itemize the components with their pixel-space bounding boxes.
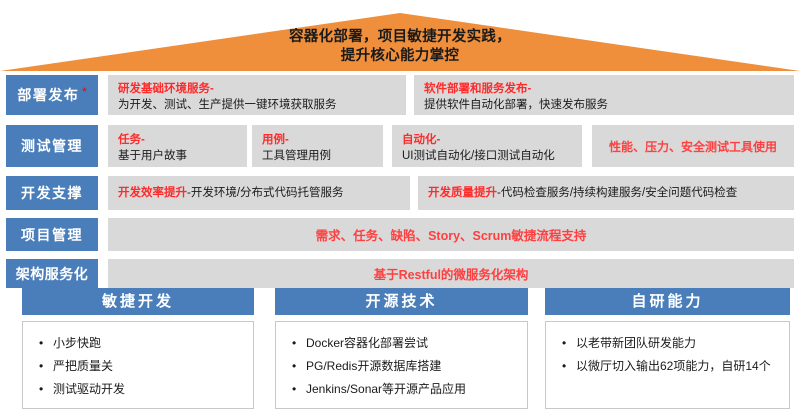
list-item[interactable]: 测试驱动开发 (31, 378, 247, 401)
matrix-card[interactable]: 需求、任务、缺陷、Story、Scrum敏捷流程支持 (108, 218, 794, 251)
banner-title: 容器化部署，项目敏捷开发实践， 提升核心能力掌控 (0, 28, 800, 66)
panel-body: 小步快跑 严把质量关 测试驱动开发 (22, 321, 254, 409)
card-subtitle: 基于用户故事 (118, 148, 247, 164)
matrix-card[interactable]: 研发基础环境服务- 为开发、测试、生产提供一键环境获取服务 (108, 75, 406, 115)
panel-selfdev: 自研能力 以老带新团队研发能力 以微厅切入输出62项能力，自研14个 (545, 288, 790, 409)
card-title: 自动化- (402, 133, 582, 148)
list-item[interactable]: PG/Redis开源数据库搭建 (284, 355, 521, 378)
matrix-card[interactable]: 开发质量提升-代码检查服务/持续构建服务/安全问题代码检查 (418, 176, 794, 210)
matrix-card[interactable]: 性能、压力、安全测试工具使用 (592, 125, 794, 167)
matrix-card[interactable]: 任务- 基于用户故事 (108, 125, 247, 167)
panel-body: Docker容器化部署尝试 PG/Redis开源数据库搭建 Jenkins/So… (275, 321, 528, 409)
card-line: 开发质量提升-代码检查服务/持续构建服务/安全问题代码检查 (428, 185, 794, 201)
list-item[interactable]: 严把质量关 (31, 355, 247, 378)
list-item[interactable]: 小步快跑 (31, 332, 247, 355)
banner-title-line2: 提升核心能力掌控 (0, 47, 800, 66)
card-line: 开发效率提升-开发环境/分布式代码托管服务 (118, 185, 410, 201)
matrix-card[interactable]: 用例- 工具管理用例 (252, 125, 383, 167)
card-highlight: 性能、压力、安全测试工具使用 (609, 138, 777, 155)
banner-title-line1: 容器化部署，项目敏捷开发实践， (0, 28, 800, 47)
card-title: 软件部署和服务发布- (424, 82, 794, 97)
panel-list: Docker容器化部署尝试 PG/Redis开源数据库搭建 Jenkins/So… (284, 332, 521, 401)
row-label-deploy[interactable]: 部署发布 * (6, 75, 98, 115)
list-item[interactable]: 以老带新团队研发能力 (554, 332, 783, 355)
bottom-panels: 敏捷开发 小步快跑 严把质量关 测试驱动开发 开源技术 Docker容器化部署尝… (0, 288, 800, 417)
matrix-card[interactable]: 开发效率提升-开发环境/分布式代码托管服务 (108, 176, 410, 210)
card-subtitle: 为开发、测试、生产提供一键环境获取服务 (118, 97, 406, 113)
card-line-black: -代码检查服务/持续构建服务/安全问题代码检查 (497, 187, 737, 199)
card-line-red: 开发效率提升 (118, 187, 187, 199)
row-label-devsupport[interactable]: 开发支撑 (6, 176, 98, 210)
row-label-test-text: 测试管理 (21, 136, 83, 156)
list-item[interactable]: Jenkins/Sonar等开源产品应用 (284, 378, 521, 401)
row-label-architecture-text: 架构服务化 (16, 264, 89, 284)
row-label-deploy-marker: * (82, 87, 86, 98)
panel-list: 以老带新团队研发能力 以微厅切入输出62项能力，自研14个 (554, 332, 783, 378)
card-title: 研发基础环境服务- (118, 82, 406, 97)
row-label-project-text: 项目管理 (21, 225, 83, 245)
panel-title[interactable]: 开源技术 (275, 288, 528, 315)
card-subtitle: 工具管理用例 (262, 148, 383, 164)
card-line-red: 开发质量提升 (428, 187, 497, 199)
list-item[interactable]: Docker容器化部署尝试 (284, 332, 521, 355)
row-label-test[interactable]: 测试管理 (6, 125, 98, 167)
row-label-deploy-text: 部署发布 (17, 85, 79, 105)
row-label-devsupport-text: 开发支撑 (21, 183, 83, 203)
panel-agile: 敏捷开发 小步快跑 严把质量关 测试驱动开发 (22, 288, 254, 409)
card-title: 用例- (262, 133, 383, 148)
card-subtitle: UI测试自动化/接口测试自动化 (402, 148, 582, 164)
card-subtitle: 提供软件自动化部署，快速发布服务 (424, 97, 794, 113)
list-item[interactable]: 以微厅切入输出62项能力，自研14个 (554, 355, 783, 378)
slide-root: 容器化部署，项目敏捷开发实践， 提升核心能力掌控 部署发布 * 研发基础环境服务… (0, 0, 800, 417)
panel-body: 以老带新团队研发能力 以微厅切入输出62项能力，自研14个 (545, 321, 790, 409)
row-label-architecture[interactable]: 架构服务化 (6, 259, 98, 288)
panel-list: 小步快跑 严把质量关 测试驱动开发 (31, 332, 247, 401)
panel-opensource: 开源技术 Docker容器化部署尝试 PG/Redis开源数据库搭建 Jenki… (275, 288, 528, 409)
matrix-card[interactable]: 基于Restful的微服务化架构 (108, 259, 794, 288)
matrix-card[interactable]: 软件部署和服务发布- 提供软件自动化部署，快速发布服务 (414, 75, 794, 115)
card-highlight: 基于Restful的微服务化架构 (374, 264, 529, 283)
card-line-black: -开发环境/分布式代码托管服务 (187, 187, 344, 199)
row-label-project[interactable]: 项目管理 (6, 218, 98, 251)
panel-title[interactable]: 敏捷开发 (22, 288, 254, 315)
panel-title[interactable]: 自研能力 (545, 288, 790, 315)
card-highlight: 需求、任务、缺陷、Story、Scrum敏捷流程支持 (316, 225, 587, 244)
matrix-card[interactable]: 自动化- UI测试自动化/接口测试自动化 (392, 125, 582, 167)
card-title: 任务- (118, 133, 247, 148)
